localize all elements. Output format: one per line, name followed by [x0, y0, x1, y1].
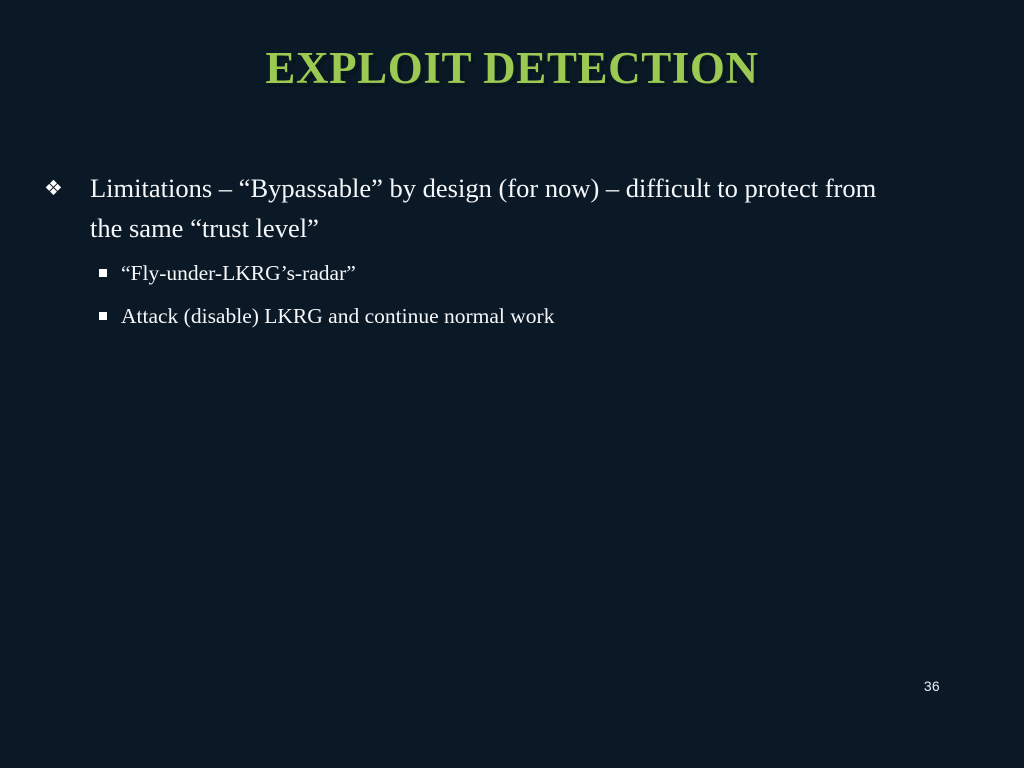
presentation-slide: EXPLOIT DETECTION ❖ Limitations – “Bypas… — [0, 0, 1024, 768]
list-item: “Fly-under-LKRG’s-radar” — [0, 254, 1024, 292]
slide-body: ❖ Limitations – “Bypassable” by design (… — [0, 168, 1024, 340]
small-square-bullet-icon — [99, 312, 107, 320]
sub-list: “Fly-under-LKRG’s-radar” Attack (disable… — [0, 254, 1024, 335]
list-item-label: “Fly-under-LKRG’s-radar” — [121, 261, 356, 285]
list-item: Attack (disable) LKRG and continue norma… — [0, 297, 1024, 335]
page-title: EXPLOIT DETECTION — [0, 44, 1024, 93]
list-item-label: Limitations – “Bypassable” by design (fo… — [90, 173, 876, 243]
list-item-label: Attack (disable) LKRG and continue norma… — [121, 304, 554, 328]
diamond-cluster-bullet-icon: ❖ — [44, 168, 70, 208]
list-item: ❖ Limitations – “Bypassable” by design (… — [0, 168, 1024, 248]
page-number: 36 — [924, 678, 940, 694]
small-square-bullet-icon — [99, 269, 107, 277]
